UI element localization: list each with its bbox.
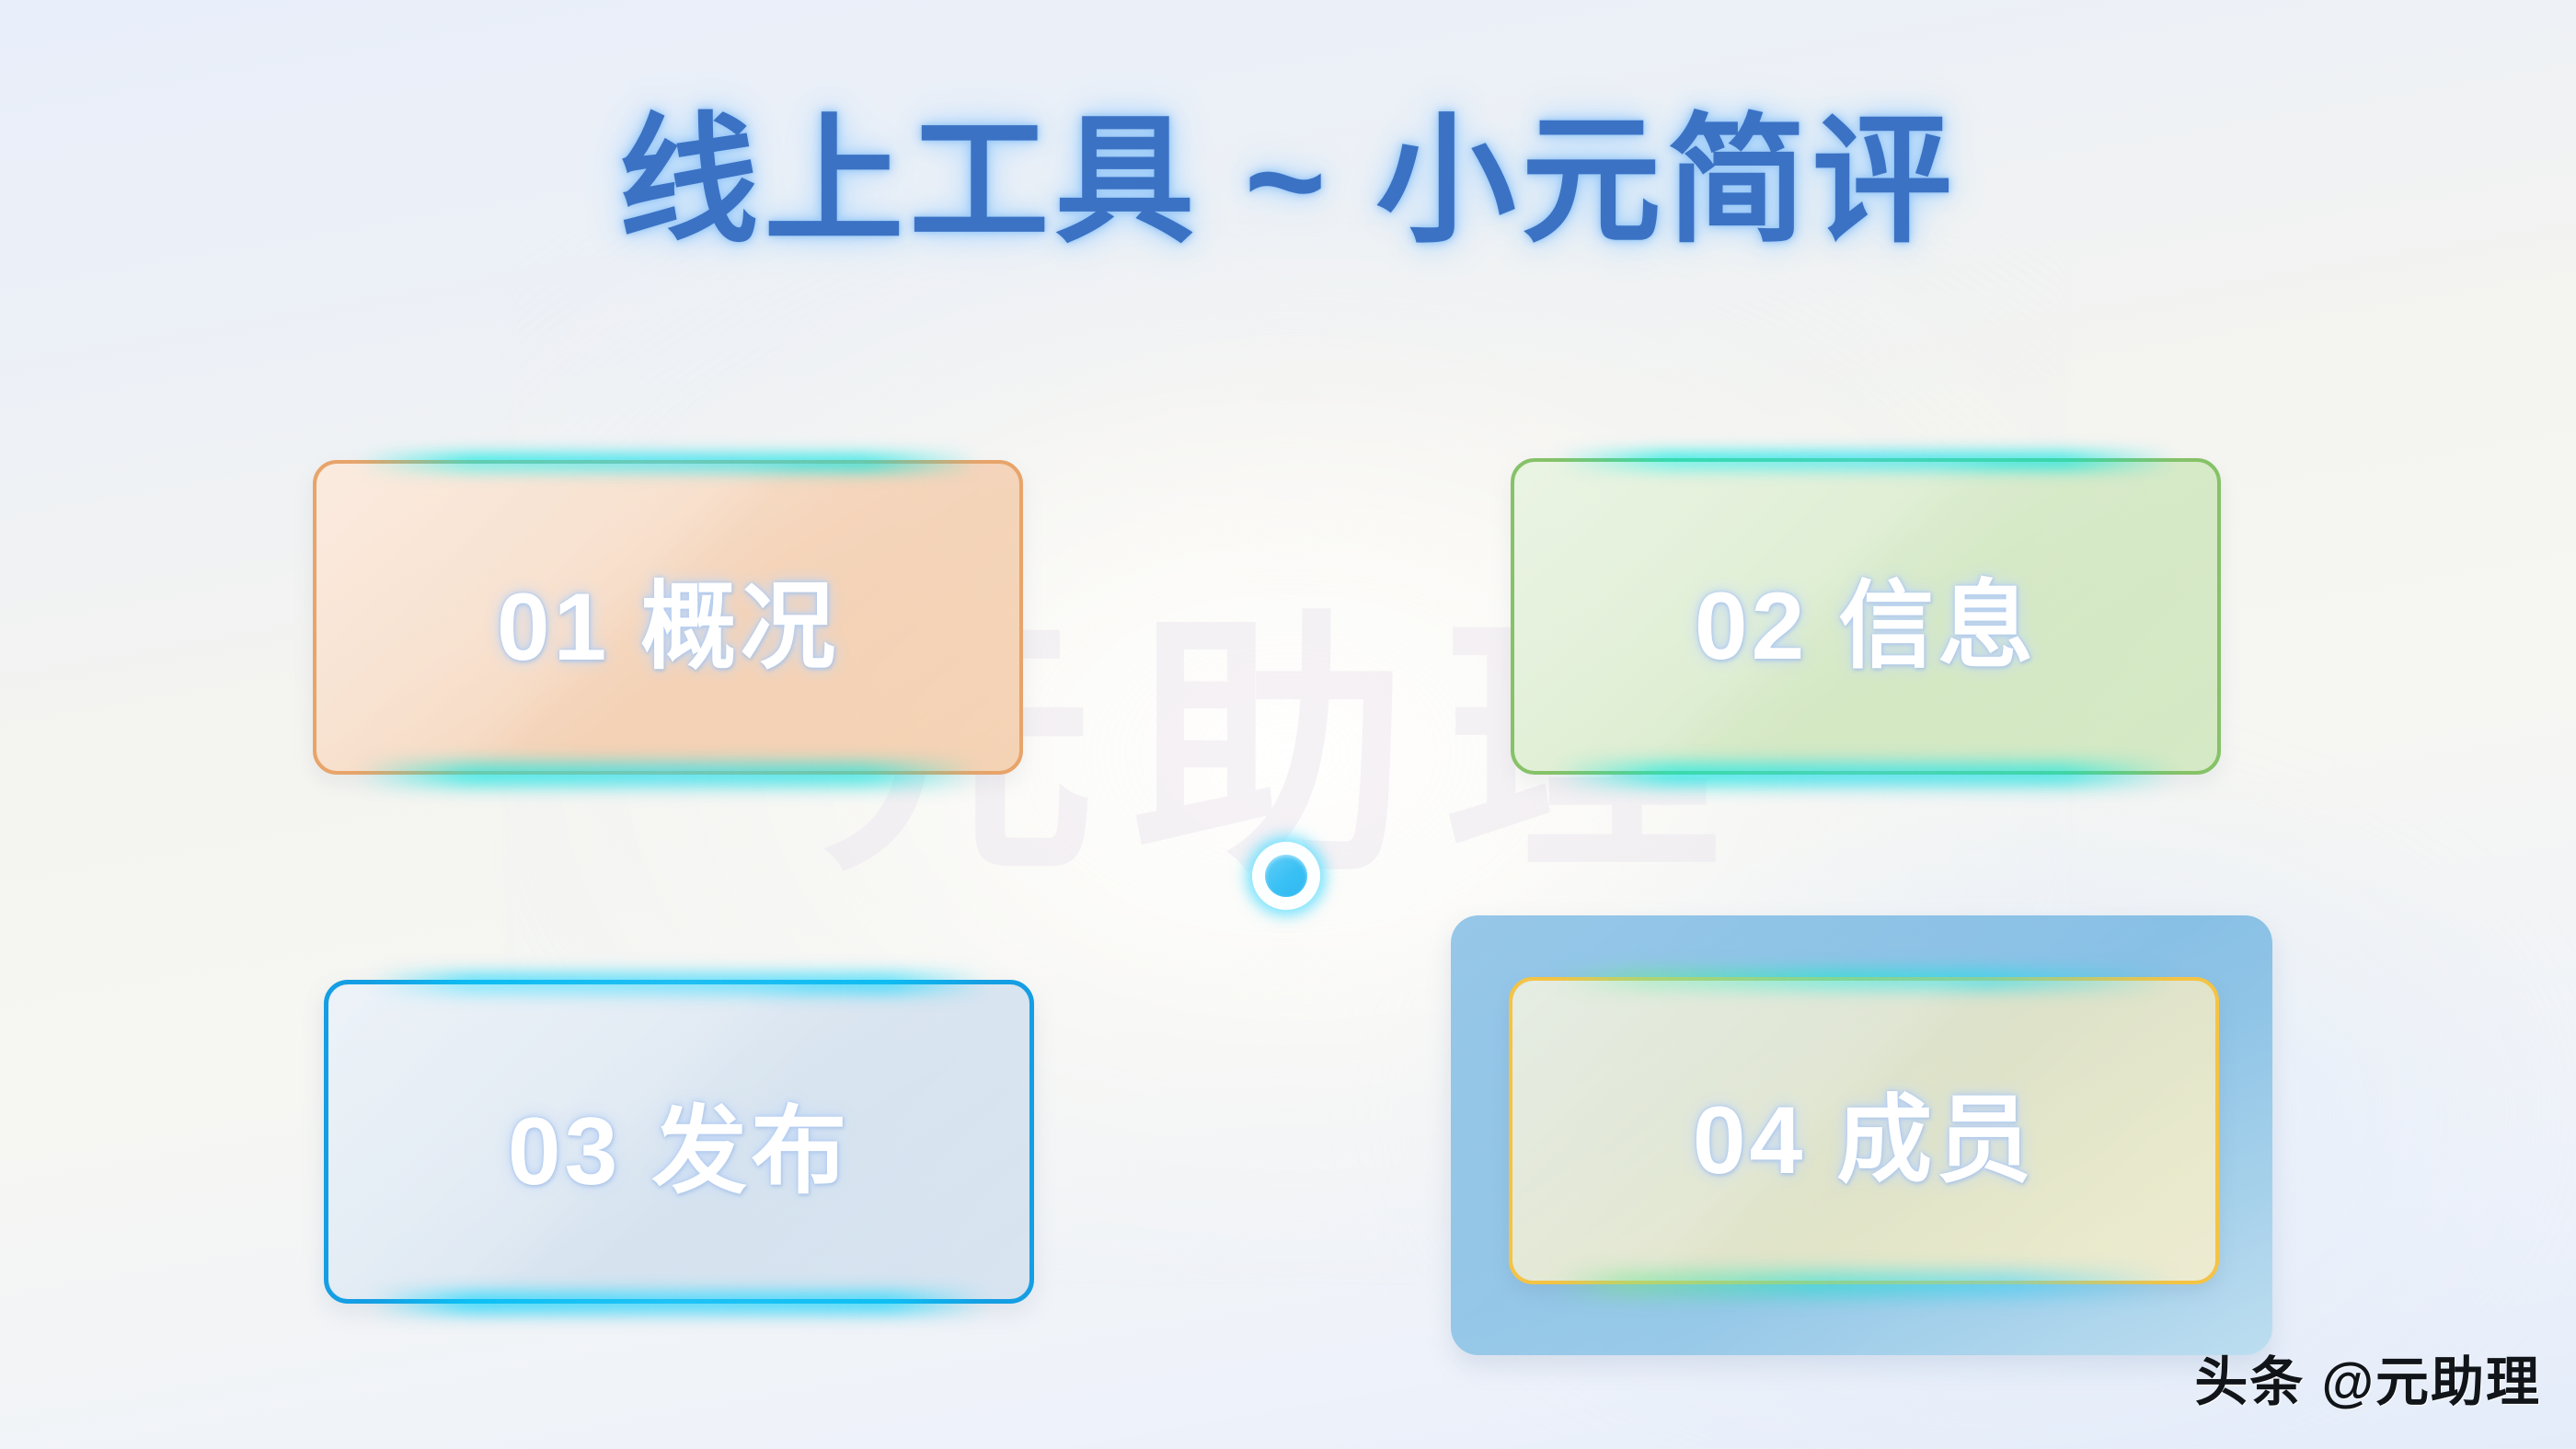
card-03-label: 03 发布: [508, 1073, 851, 1212]
author-watermark: 头条 @元助理: [2194, 1339, 2541, 1416]
card-02-label: 02 信息: [1695, 547, 2038, 686]
center-hub-node[interactable]: [1252, 842, 1320, 910]
slide-title: 线上工具 ~ 小元简评: [0, 109, 2576, 256]
card-03-publish[interactable]: 03 发布: [324, 980, 1034, 1304]
center-hub-dot: [1265, 855, 1307, 897]
card-04-members[interactable]: 04 成员: [1509, 977, 2219, 1284]
slide-canvas: 元助理 线上工具 ~ 小元简评 01 概况 02 信息 03 发布 04 成员: [0, 0, 2576, 1449]
card-02-information[interactable]: 02 信息: [1511, 458, 2221, 775]
card-01-label: 01 概况: [497, 548, 840, 687]
card-04-label: 04 成员: [1693, 1062, 2036, 1201]
card-01-overview[interactable]: 01 概况: [313, 460, 1023, 775]
